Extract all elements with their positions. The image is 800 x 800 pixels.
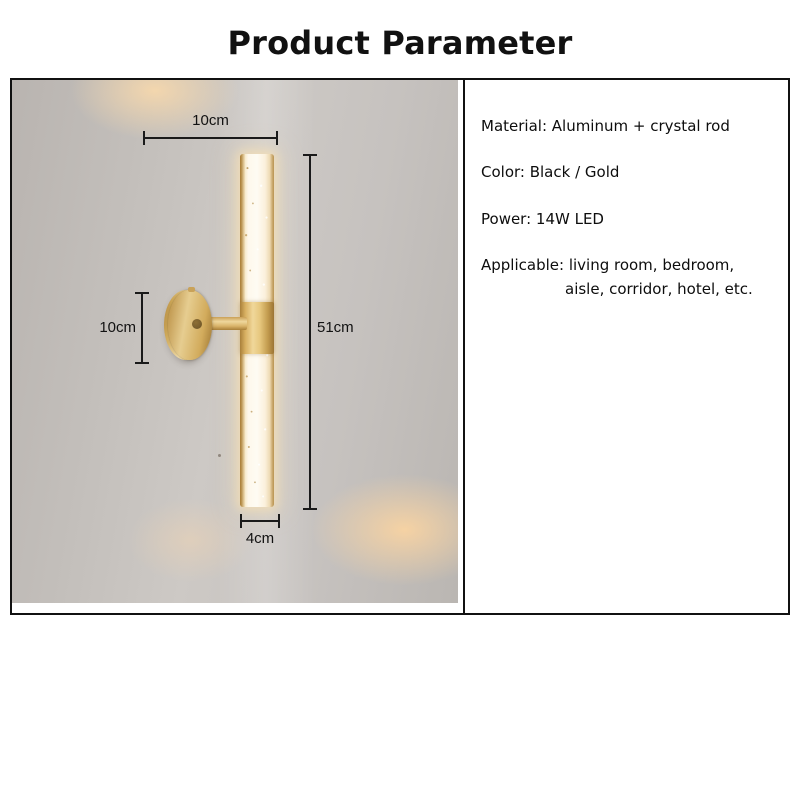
wall-plate-nub	[188, 287, 195, 292]
dimension-tick-bottom-left	[240, 514, 242, 528]
wall-lamp-photo: 10cm 10cm 51cm 4cm	[12, 80, 458, 603]
dimension-label-width-top: 10cm	[143, 112, 278, 129]
dimension-label-total-height: 51cm	[317, 319, 354, 336]
page-title: Product Parameter	[0, 24, 800, 62]
dimension-tick-right-top	[303, 154, 317, 156]
dimension-tick-left-top	[135, 292, 149, 294]
dimension-line-left	[141, 292, 143, 364]
spec-color: Color: Black / Gold	[481, 162, 788, 182]
wall-speck	[218, 454, 221, 457]
spec-applicable: Applicable: living room, bedroom, aisle,…	[481, 255, 788, 300]
dimension-tick-bottom-right	[278, 514, 280, 528]
dimension-line-bottom	[240, 520, 280, 522]
dimension-line-top	[143, 137, 278, 139]
wall-plate-center	[192, 319, 202, 329]
dimension-tick-left-bottom	[135, 362, 149, 364]
product-parameter-panel: 10cm 10cm 51cm 4cm Material: Aluminum + …	[10, 78, 790, 615]
dimension-tick-right-bottom	[303, 508, 317, 510]
spec-power: Power: 14W LED	[481, 209, 788, 229]
spec-applicable-line2: aisle, corridor, hotel, etc.	[481, 279, 788, 299]
spec-applicable-line1: Applicable: living room, bedroom,	[481, 256, 734, 274]
dimension-tick-top-right	[276, 131, 278, 145]
dimension-label-rod-width: 4cm	[220, 530, 300, 547]
dimension-line-right	[309, 154, 311, 510]
spec-list: Material: Aluminum + crystal rod Color: …	[473, 80, 788, 613]
wall-plate-disc	[168, 290, 212, 360]
spec-material: Material: Aluminum + crystal rod	[481, 116, 788, 136]
dimension-tick-top-left	[143, 131, 145, 145]
panel-divider	[463, 80, 465, 613]
dimension-label-plate-height: 10cm	[90, 319, 136, 336]
